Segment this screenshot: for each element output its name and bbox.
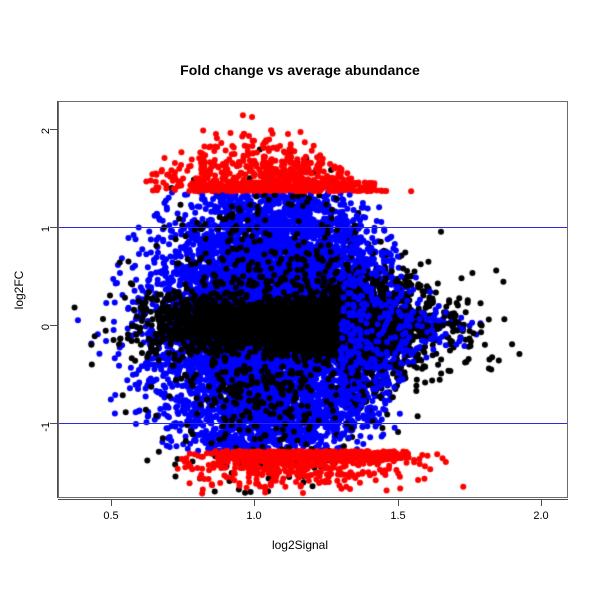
- x-tick-mark: [398, 499, 399, 506]
- y-tick-label: -1: [40, 422, 52, 448]
- y-axis-line: [57, 101, 58, 498]
- y-tick-label-wrap: -1: [12, 416, 46, 430]
- y-tick-label: 1: [40, 226, 52, 252]
- scatter-plot-figure: Fold change vs average abundance 210-1 l…: [0, 0, 600, 600]
- y-tick-label: 0: [40, 324, 52, 350]
- x-axis-line: [58, 499, 568, 500]
- x-tick-mark: [254, 499, 255, 506]
- threshold-line-upper: [59, 227, 567, 228]
- page-title: Fold change vs average abundance: [0, 62, 600, 78]
- x-tick-mark: [111, 499, 112, 506]
- y-tick-label-wrap: 2: [12, 122, 46, 136]
- x-tick-mark: [541, 499, 542, 506]
- x-axis-title: log2Signal: [0, 538, 600, 552]
- threshold-line-lower: [59, 423, 567, 424]
- y-tick-label-wrap: 1: [12, 220, 46, 234]
- x-tick-label: 0.5: [91, 510, 131, 522]
- y-axis-title: log2FC: [12, 255, 26, 325]
- y-tick-label: 2: [40, 128, 52, 154]
- plot-area: [58, 101, 568, 498]
- x-tick-label: 1.5: [378, 510, 418, 522]
- x-tick-label: 2.0: [521, 510, 561, 522]
- x-tick-label: 1.0: [234, 510, 274, 522]
- scatter-points-canvas: [59, 102, 567, 497]
